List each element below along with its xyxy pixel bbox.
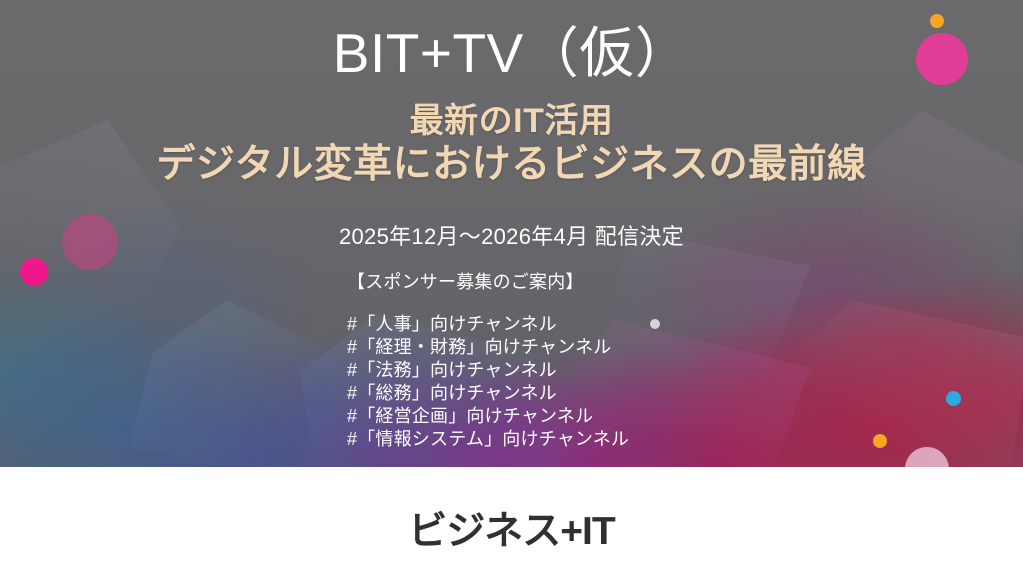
banner-dateline: 2025年12月～2026年4月 配信決定 [0,219,1023,251]
hero-banner: BIT+TV（仮） 最新のIT活用 デジタル変革におけるビジネスの最前線 202… [0,0,1023,467]
banner-text-group: BIT+TV（仮） 最新のIT活用 デジタル変革におけるビジネスの最前線 202… [0,0,1023,467]
channel-list-item: #「経理・財務」向けチャンネル [347,336,629,359]
channel-list: #「人事」向けチャンネル #「経理・財務」向けチャンネル #「法務」向けチャンネ… [347,313,629,451]
banner-subtitle-line-2: デジタル変革におけるビジネスの最前線 [0,141,1023,188]
banner-subtitle-group: 最新のIT活用 デジタル変革におけるビジネスの最前線 [0,101,1023,188]
banner-title: BIT+TV（仮） [0,25,1023,83]
channel-list-item: #「人事」向けチャンネル [347,313,629,336]
business-it-logo: ビジネス+IT [0,500,1023,556]
footer-bar: ビジネス+IT [0,467,1023,574]
banner-page: BIT+TV（仮） 最新のIT活用 デジタル変革におけるビジネスの最前線 202… [0,0,1023,574]
sponsor-recruitment-note: 【スポンサー募集のご案内】 [347,268,584,294]
channel-list-item: #「経営企画」向けチャンネル [347,405,629,428]
channel-list-item: #「総務」向けチャンネル [347,382,629,405]
channel-list-item: #「法務」向けチャンネル [347,359,629,382]
channel-list-item: #「情報システム」向けチャンネル [347,428,629,451]
banner-subtitle-line-1: 最新のIT活用 [0,101,1023,141]
